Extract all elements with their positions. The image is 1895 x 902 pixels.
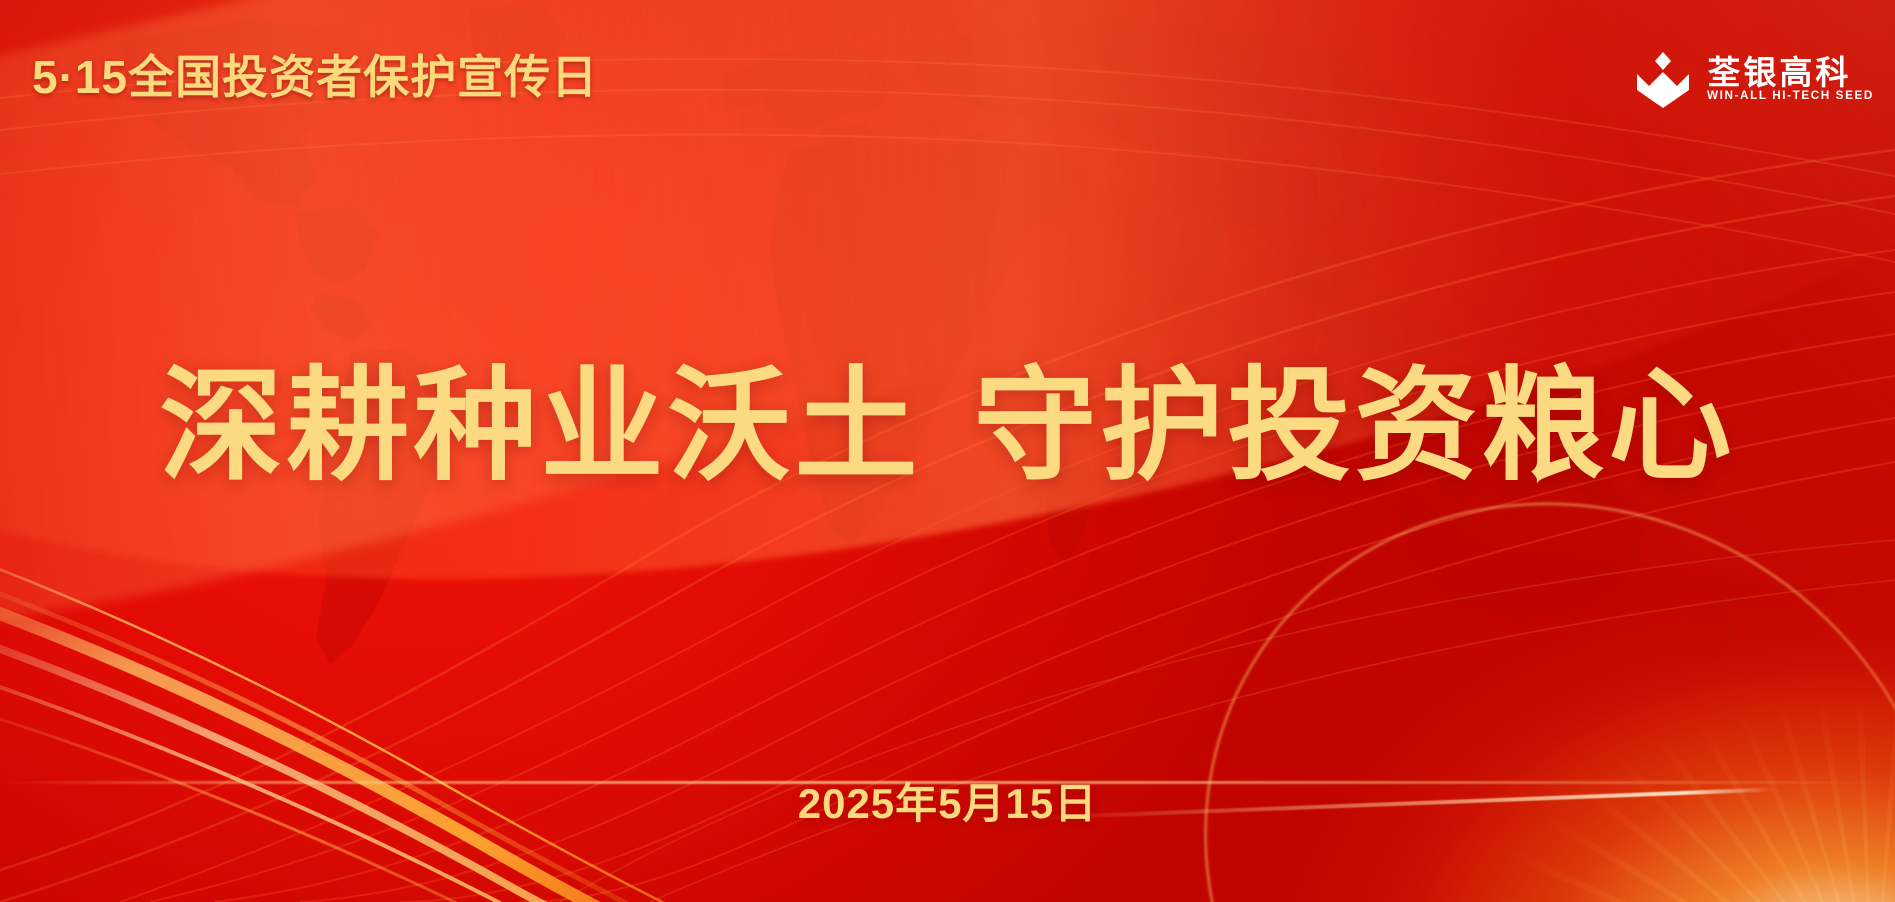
chevron-diamond-logo-icon <box>1633 50 1693 108</box>
event-date: 2025年5月15日 <box>0 783 1895 825</box>
main-headline: 深耕种业沃土守护投资粮心 <box>0 358 1895 496</box>
logo-name-cn: 荃银高科 <box>1707 56 1871 89</box>
investor-protection-banner: 5·15全国投资者保护宣传日 荃银高科 WIN-ALL HI-TECH SEED… <box>0 0 1895 902</box>
logo-name-en: WIN-ALL HI-TECH SEED <box>1707 91 1874 103</box>
headline-part-two: 守护投资粮心 <box>974 358 1736 495</box>
golden-ribbon-streaks <box>0 562 1120 902</box>
company-logo: 荃银高科 WIN-ALL HI-TECH SEED <box>1633 50 1871 108</box>
campaign-eyebrow-title: 5·15全国投资者保护宣传日 <box>32 54 598 100</box>
logo-text-block: 荃银高科 WIN-ALL HI-TECH SEED <box>1707 56 1871 103</box>
headline-part-one: 深耕种业沃土 <box>160 358 922 495</box>
